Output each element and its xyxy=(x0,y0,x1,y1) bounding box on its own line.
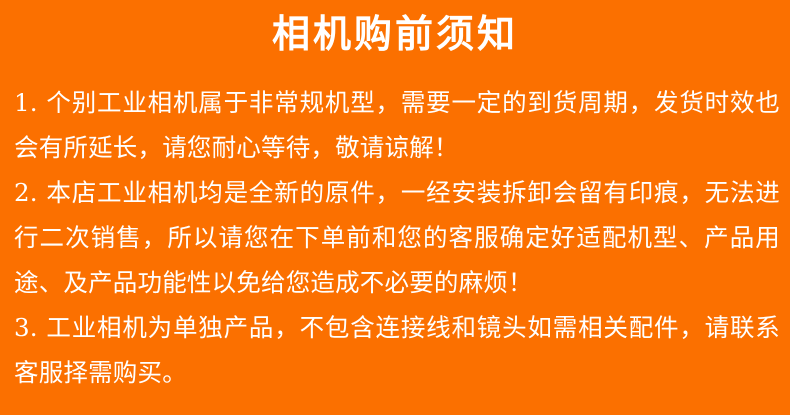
list-item: 3. 工业相机为单独产品，不包含连接线和镜头如需相关配件，请联系客服择需购买。 xyxy=(14,305,780,395)
purchase-notice-banner: 相机购前须知 1. 个别工业相机属于非常规机型，需要一定的到货周期，发货时效也会… xyxy=(0,0,790,415)
notice-list: 1. 个别工业相机属于非常规机型，需要一定的到货周期，发货时效也会有所延长，请您… xyxy=(14,80,780,395)
list-item: 2. 本店工业相机均是全新的原件，一经安装拆卸会留有印痕，无法进行二次销售，所以… xyxy=(14,170,780,305)
page-title: 相机购前须知 xyxy=(0,8,790,60)
list-item: 1. 个别工业相机属于非常规机型，需要一定的到货周期，发货时效也会有所延长，请您… xyxy=(14,80,780,170)
